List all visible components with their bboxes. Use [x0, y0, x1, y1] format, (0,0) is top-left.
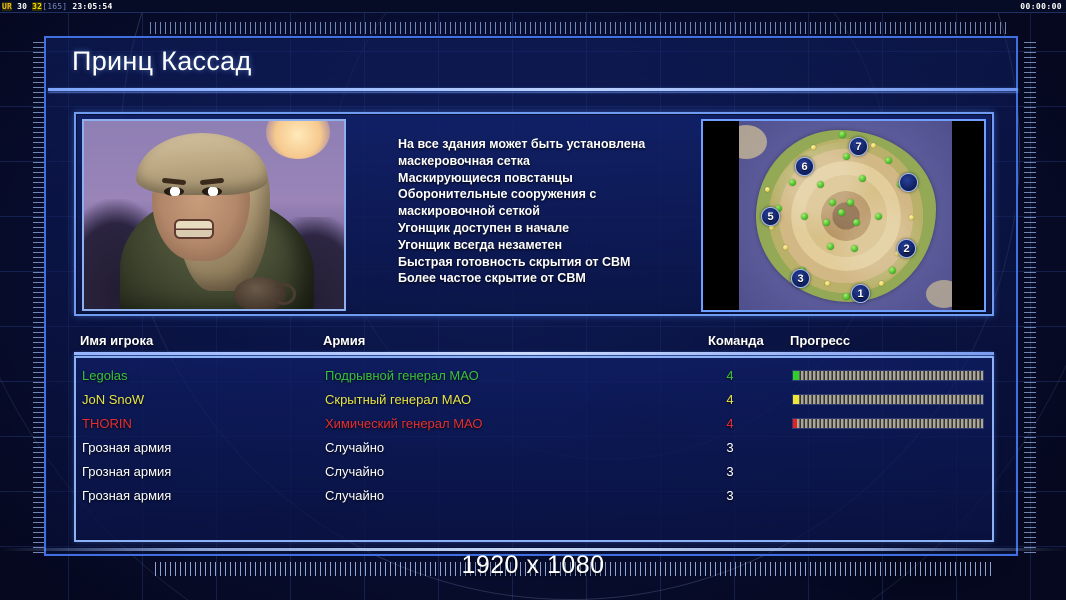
minimap-start-position-2[interactable]: 2: [897, 239, 916, 258]
player-name: THORIN: [82, 416, 132, 431]
title-divider: [48, 88, 1018, 91]
minimap-resource-dot: [885, 157, 892, 164]
fps-value: 30: [17, 2, 27, 11]
ruler-right: [1024, 42, 1036, 554]
table-row[interactable]: Грозная армияСлучайно3: [76, 460, 992, 484]
minimap-resource-dot: [789, 179, 796, 186]
minimap-resource-dot: [801, 213, 808, 220]
minimap-resource-dot: [859, 175, 866, 182]
player-team[interactable]: 3: [710, 464, 750, 479]
fps-label: UR: [2, 2, 12, 11]
minimap-resource-dot: [851, 245, 858, 252]
page-title: Принц Кассад: [72, 46, 252, 77]
table-header-divider: [74, 352, 994, 355]
column-header-team: Команда: [708, 333, 764, 348]
table-row[interactable]: THORINХимический генерал МАО4: [76, 412, 992, 436]
player-name: Грозная армия: [82, 440, 171, 455]
minimap-resource-dot: [875, 213, 882, 220]
minimap-resource-dot: [829, 199, 836, 206]
minimap-resource-dot: [843, 153, 850, 160]
table-row[interactable]: LegolasПодрывной генерал МАО4: [76, 364, 992, 388]
minimap-start-position-3[interactable]: 3: [791, 269, 810, 288]
column-header-army: Армия: [323, 333, 365, 348]
general-portrait-frame: [82, 119, 346, 311]
resolution-overlay: 1920 x 1080: [0, 551, 1066, 580]
player-team[interactable]: 4: [710, 392, 750, 407]
table-row[interactable]: Грозная армияСлучайно3: [76, 436, 992, 460]
player-army[interactable]: Химический генерал МАО: [325, 416, 483, 431]
minimap-supply-dot: [811, 145, 816, 150]
progress-bar-fill: [793, 419, 797, 428]
minimap-resource-dot: [839, 131, 846, 138]
player-team[interactable]: 4: [710, 416, 750, 431]
main-panel: Принц Кассад: [44, 36, 1018, 556]
minimap-supply-dot: [871, 143, 876, 148]
player-army[interactable]: Случайно: [325, 488, 384, 503]
ruler-top: [150, 22, 1010, 34]
game-clock: 00:00:00: [1020, 0, 1062, 13]
table-row[interactable]: Грозная армияСлучайно3: [76, 484, 992, 508]
session-time: 23:05:54: [72, 2, 112, 11]
progress-bar-track: [793, 371, 983, 380]
progress-bar: [792, 394, 984, 405]
progress-bar-track: [793, 419, 983, 428]
portrait-teapot: [234, 277, 286, 311]
portrait-mouth: [176, 221, 212, 237]
player-name: Грозная армия: [82, 488, 171, 503]
player-team[interactable]: 4: [710, 368, 750, 383]
minimap-resource-dot: [823, 219, 830, 226]
portrait-eye-right: [202, 187, 222, 196]
minimap-resource-dot: [838, 209, 845, 216]
minimap-resource-dot: [847, 199, 854, 206]
players-table-header: Имя игрока Армия Команда Прогресс: [74, 330, 994, 354]
panel-header: Принц Кассад: [46, 38, 1016, 90]
progress-bar-track: [793, 395, 983, 404]
general-abilities-description: На все здания может быть установлена мас…: [398, 136, 708, 287]
minimap-supply-dot: [765, 187, 770, 192]
player-name: Legolas: [82, 368, 128, 383]
minimap-resource-dot: [843, 293, 850, 300]
minimap-supply-dot: [783, 245, 788, 250]
progress-bar-fill: [793, 371, 799, 380]
minimap-start-position-1[interactable]: 1: [851, 284, 870, 303]
progress-bar: [792, 418, 984, 429]
player-army[interactable]: Скрытный генерал МАО: [325, 392, 471, 407]
portrait-eye-left: [164, 187, 184, 196]
minimap-resource-dot: [889, 267, 896, 274]
general-portrait-image: [84, 121, 344, 309]
player-name: JoN SnoW: [82, 392, 144, 407]
status-bar: UR 30 32[165] 23:05:54 00:00:00: [0, 0, 1066, 13]
player-army[interactable]: Случайно: [325, 440, 384, 455]
minimap-frame: 765231: [701, 119, 986, 312]
table-row[interactable]: JoN SnoWСкрытный генерал МАО4: [76, 388, 992, 412]
minimap-resource-dot: [827, 243, 834, 250]
frame-value: 32: [32, 2, 42, 11]
minimap-resource-dot: [817, 181, 824, 188]
column-header-progress: Прогресс: [790, 333, 850, 348]
minimap-supply-dot: [825, 281, 830, 286]
minimap-start-position-unset[interactable]: [899, 173, 918, 192]
players-table-rows: LegolasПодрывной генерал МАО4JoN SnoWСкр…: [76, 358, 992, 508]
minimap-start-position-5[interactable]: 5: [761, 207, 780, 226]
players-table: LegolasПодрывной генерал МАО4JoN SnoWСкр…: [74, 356, 994, 542]
player-team[interactable]: 3: [710, 440, 750, 455]
progress-bar-fill: [793, 395, 799, 404]
fps-counter: UR 30 32[165] 23:05:54: [2, 0, 112, 13]
player-team[interactable]: 3: [710, 488, 750, 503]
player-army[interactable]: Подрывной генерал МАО: [325, 368, 479, 383]
progress-bar: [792, 370, 984, 381]
minimap-supply-dot: [879, 281, 884, 286]
player-name: Грозная армия: [82, 464, 171, 479]
minimap-supply-dot: [909, 215, 914, 220]
player-army[interactable]: Случайно: [325, 464, 384, 479]
general-info-card: На все здания может быть установлена мас…: [74, 112, 994, 316]
minimap[interactable]: 765231: [739, 121, 952, 310]
game-lobby-screen: UR 30 32[165] 23:05:54 00:00:00 Принц Ка…: [0, 0, 1066, 600]
minimap-start-position-7[interactable]: 7: [849, 137, 868, 156]
title-divider-secondary: [48, 92, 1018, 93]
column-header-player-name: Имя игрока: [80, 333, 153, 348]
minimap-start-position-6[interactable]: 6: [795, 157, 814, 176]
minimap-resource-dot: [853, 219, 860, 226]
bracket-value: [165]: [42, 2, 67, 11]
